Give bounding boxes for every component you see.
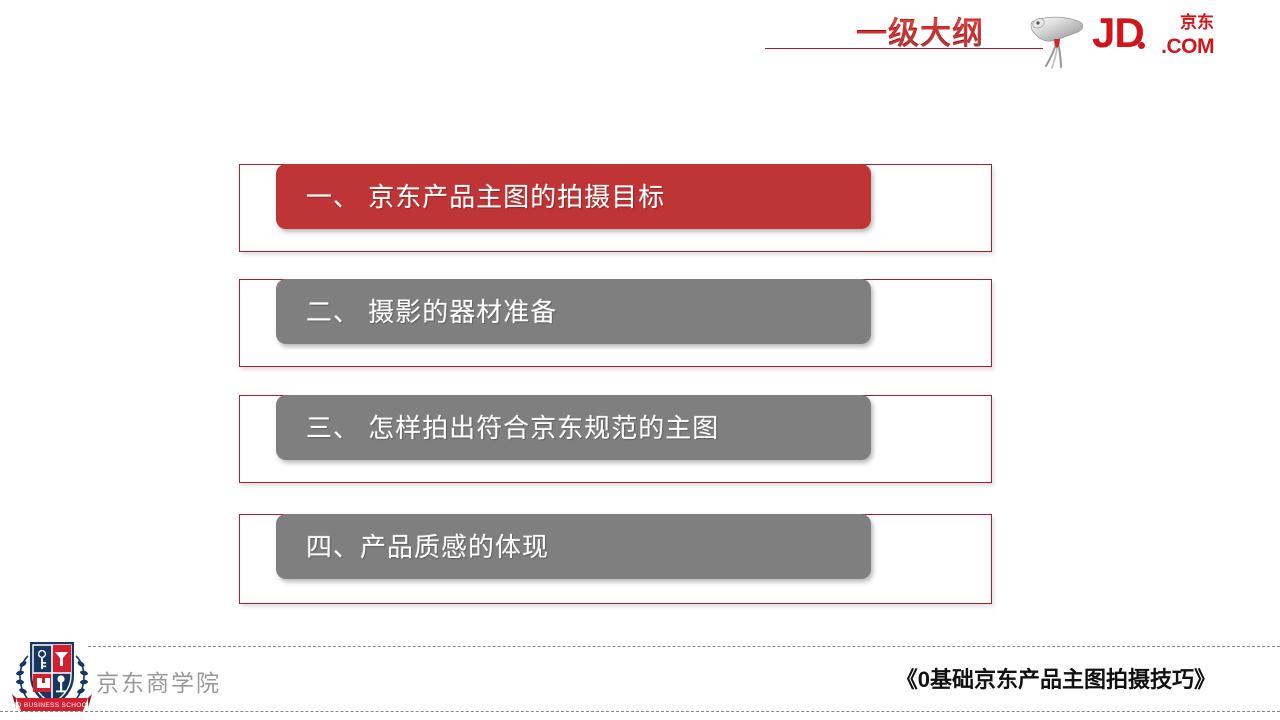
outline-card-label-3: 三、 怎样拍出符合京东规范的主图 [276, 413, 719, 443]
outline-row-4[interactable]: 四、产品质感的体现 [239, 514, 994, 604]
outline-row-3[interactable]: 三、 怎样拍出符合京东规范的主图 [239, 395, 994, 483]
footer-divider-bottom [0, 711, 1280, 712]
outline-list: 一、 京东产品主图的拍摄目标 二、 摄影的器材准备 三、 怎样拍出符合京东规范的… [0, 0, 1280, 720]
footer-school-name: 京东商学院 [96, 664, 221, 698]
outline-card-1[interactable]: 一、 京东产品主图的拍摄目标 [276, 164, 871, 229]
footer-divider-top [88, 646, 1280, 647]
outline-card-label-1: 一、 京东产品主图的拍摄目标 [276, 182, 665, 212]
jd-business-school-shield-icon: JD BUSINESS SCHOOL [10, 632, 94, 718]
footer-course-title: 《0基础京东产品主图拍摄技巧》 [896, 662, 1216, 694]
slide-footer: JD BUSINESS SCHOOL 京东商学院 《0基础京东产品主图拍摄技巧》 [0, 630, 1280, 720]
outline-row-1[interactable]: 一、 京东产品主图的拍摄目标 [239, 164, 994, 252]
svg-text:JD BUSINESS SCHOOL: JD BUSINESS SCHOOL [13, 702, 91, 709]
outline-card-3[interactable]: 三、 怎样拍出符合京东规范的主图 [276, 395, 871, 460]
outline-card-label-2: 二、 摄影的器材准备 [276, 297, 557, 327]
outline-card-label-4: 四、产品质感的体现 [276, 532, 549, 562]
outline-row-2[interactable]: 二、 摄影的器材准备 [239, 279, 994, 367]
outline-card-4[interactable]: 四、产品质感的体现 [276, 514, 871, 579]
outline-card-2[interactable]: 二、 摄影的器材准备 [276, 279, 871, 344]
